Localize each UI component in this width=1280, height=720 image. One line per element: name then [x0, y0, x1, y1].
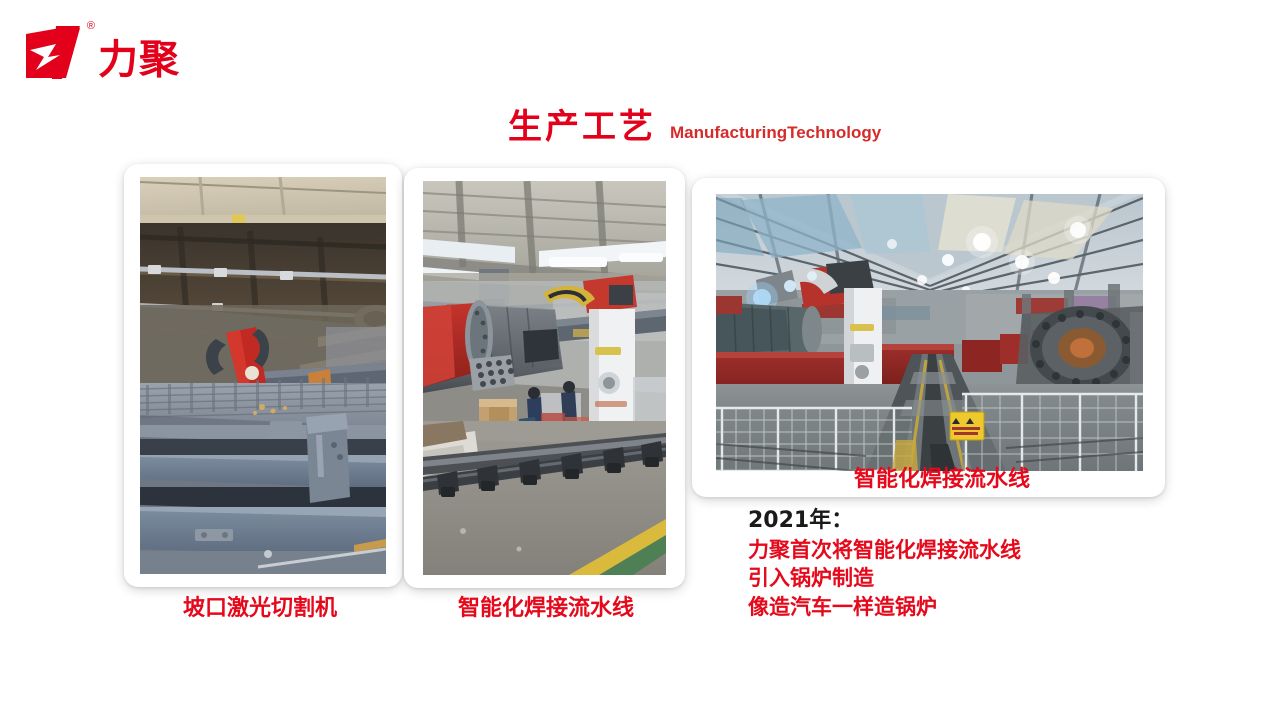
caption-bevel-laser-cutter: 坡口激光切割机: [183, 598, 337, 620]
note-year: 2021年：: [748, 506, 1021, 536]
page-title-en: ManufacturingTechnology: [670, 124, 881, 144]
note-block: 2021年： 力聚首次将智能化焊接流水线 引入锅炉制造 像造汽车一样造锅炉: [748, 506, 1021, 622]
page-title-cn: 生产工艺: [508, 110, 656, 144]
photo-card-welding-line-2[interactable]: 智能化焊接流水线: [692, 178, 1165, 497]
warning-sign: [950, 412, 984, 440]
logo-wordmark: 力聚: [98, 40, 180, 82]
note-line-2: 引入锅炉制造: [748, 564, 1021, 593]
slide-root: ® 力聚 生产工艺 ManufacturingTechnology: [0, 0, 1280, 720]
photo-card-bevel-laser-cutter[interactable]: [124, 164, 402, 587]
photo-welding-line-2: [716, 194, 1143, 471]
photo-welding-line-1: [423, 181, 666, 575]
photo-card-welding-line-1[interactable]: [404, 168, 685, 588]
lijun-lightning-logo-icon: ®: [22, 24, 84, 82]
note-line-1: 力聚首次将智能化焊接流水线: [748, 536, 1021, 565]
company-logo: ® 力聚: [22, 24, 180, 82]
photo-bevel-laser-cutter: [140, 177, 386, 574]
caption-welding-line-1: 智能化焊接流水线: [458, 598, 634, 620]
registered-trademark-icon: ®: [87, 21, 95, 32]
caption-welding-line-2: 智能化焊接流水线: [854, 469, 1030, 491]
page-title: 生产工艺 ManufacturingTechnology: [508, 110, 881, 144]
note-line-3: 像造汽车一样造锅炉: [748, 593, 1021, 622]
